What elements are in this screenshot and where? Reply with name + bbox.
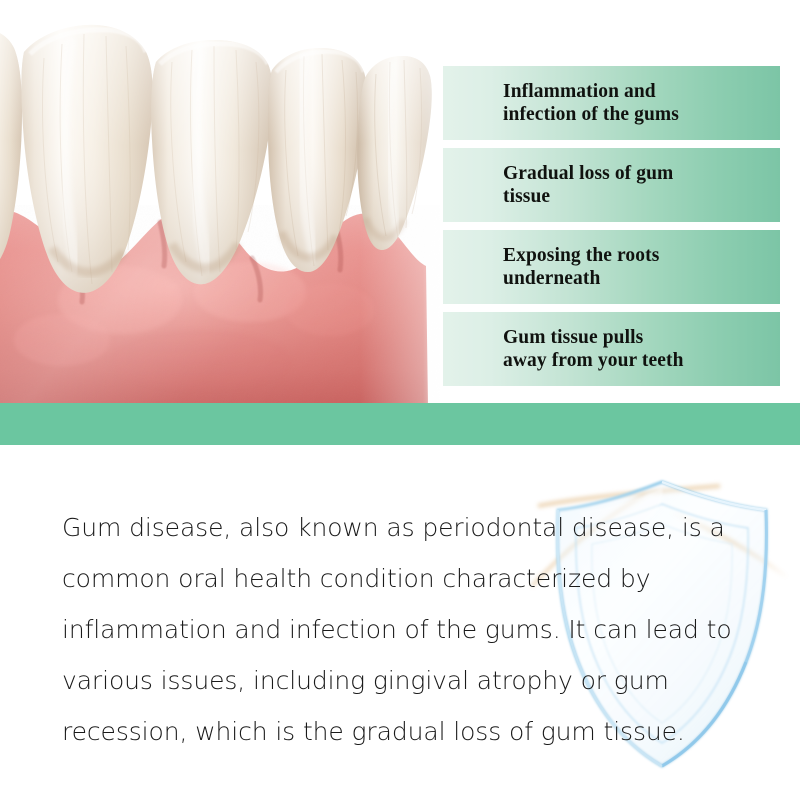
symptom-label-1-text: Inflammation and infection of the gums (503, 80, 679, 126)
symptom-label-list: Inflammation and infection of the gums G… (443, 66, 780, 394)
symptom-label-1[interactable]: Inflammation and infection of the gums (443, 66, 780, 140)
teeth-gum-illustration (0, 0, 440, 410)
green-divider-bar (0, 403, 800, 445)
symptom-label-3[interactable]: Exposing the roots underneath (443, 230, 780, 304)
symptom-label-2[interactable]: Gradual loss of gum tissue (443, 148, 780, 222)
symptom-label-4-text: Gum tissue pulls away from your teeth (503, 326, 684, 372)
symptom-label-4[interactable]: Gum tissue pulls away from your teeth (443, 312, 780, 386)
hero-section: Inflammation and infection of the gums G… (0, 0, 800, 446)
symptom-label-3-text: Exposing the roots underneath (503, 244, 659, 290)
symptom-label-2-text: Gradual loss of gum tissue (503, 162, 673, 208)
description-paragraph: Gum disease, also known as periodontal d… (62, 502, 762, 757)
description-section: Gum disease, also known as periodontal d… (0, 446, 800, 800)
infographic-page: Inflammation and infection of the gums G… (0, 0, 800, 800)
